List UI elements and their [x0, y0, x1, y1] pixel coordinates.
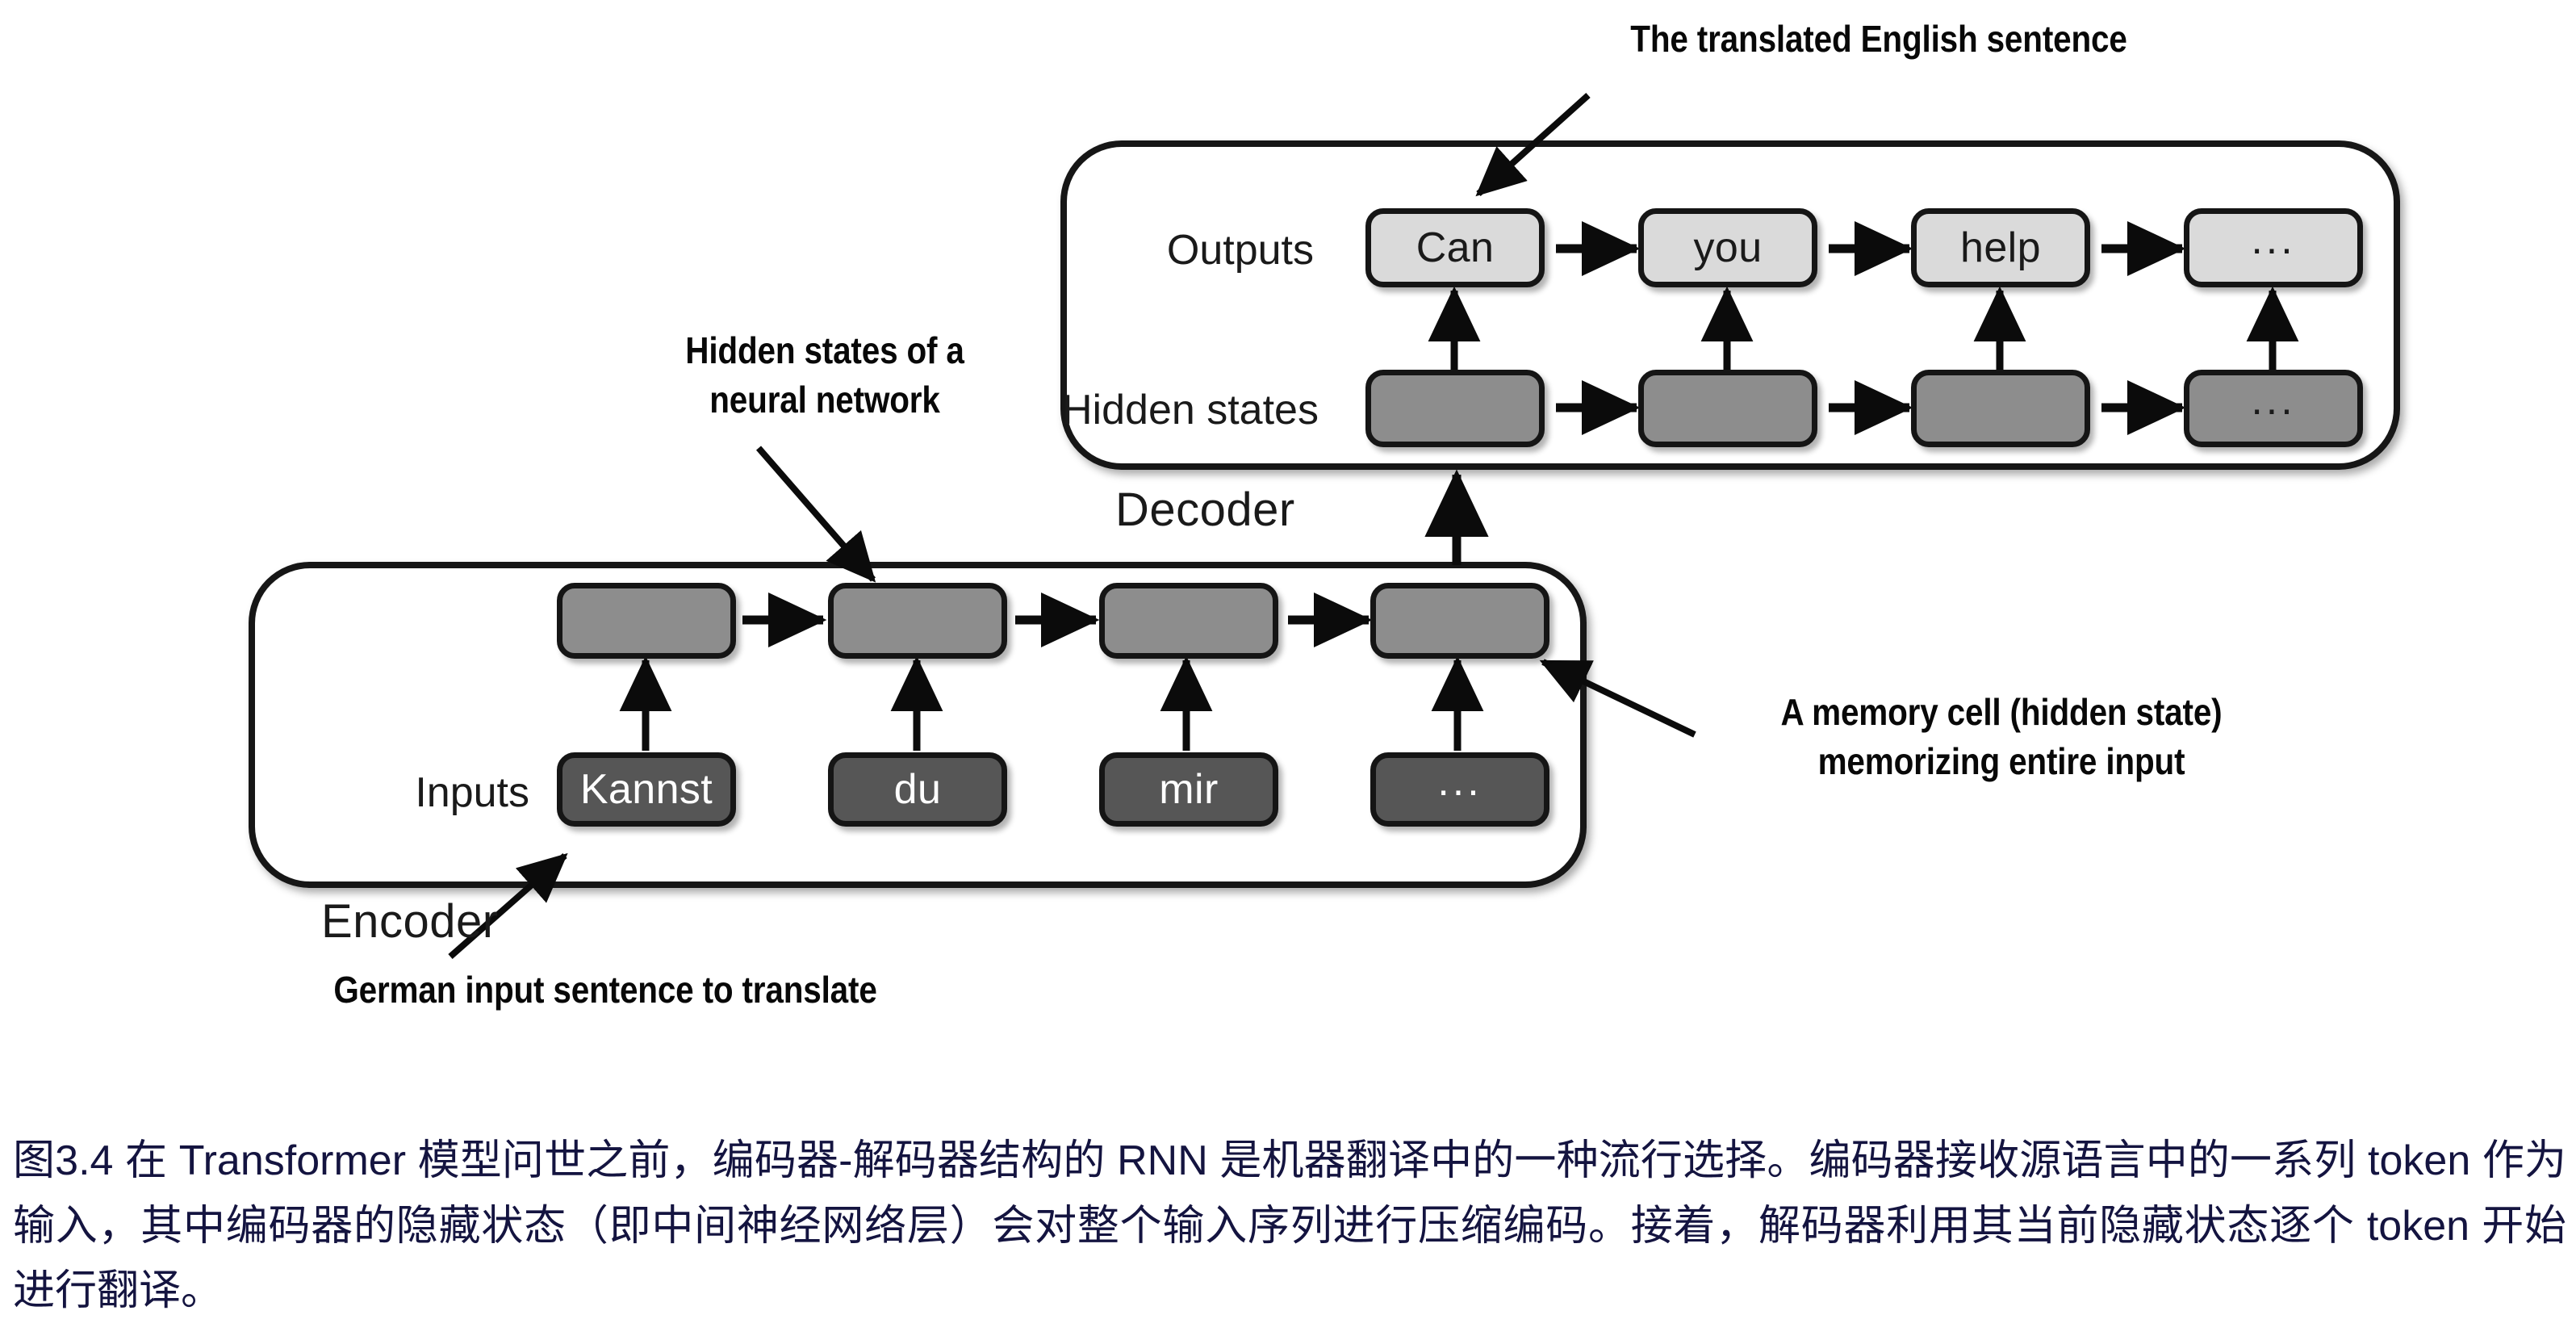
decoder-hidden-cell-2[interactable]: [1638, 370, 1817, 447]
figure-caption: 图3.4 在 Transformer 模型问世之前，编码器-解码器结构的 RNN…: [13, 1129, 2566, 1324]
decoder-hidden-states-row-label: Hidden states: [1062, 386, 1314, 434]
input-cell-1-text: Kannst: [580, 768, 713, 810]
callout-hidden-states-of-neural-network: Hidden states of a neural network: [555, 326, 1095, 424]
decoder-hidden-cell-3[interactable]: [1911, 370, 2090, 447]
input-cell-3-text: mir: [1159, 768, 1218, 810]
input-cell-3[interactable]: mir: [1099, 752, 1278, 827]
output-cell-3[interactable]: help: [1911, 208, 2090, 287]
output-cell-4-text: ...: [2251, 219, 2295, 261]
decoder-hidden-cell-4[interactable]: ...: [2184, 370, 2363, 447]
encoder-title: Encoder: [321, 894, 499, 948]
encoder-hidden-cell-2[interactable]: [828, 583, 1007, 659]
output-cell-1[interactable]: Can: [1365, 208, 1545, 287]
decoder-hidden-cell-1[interactable]: [1365, 370, 1545, 447]
callout-german-input-sentence: German input sentence to translate: [286, 965, 925, 1015]
input-cell-2-text: du: [894, 768, 942, 810]
decoder-title: Decoder: [1115, 483, 1295, 537]
decoder-hidden-cell-4-text: ...: [2251, 379, 2295, 421]
callout-memory-cell: A memory cell (hidden state) memorizing …: [1689, 688, 2314, 785]
callout-translated-english-sentence: The translated English sentence: [1559, 15, 2198, 64]
input-cell-4[interactable]: ...: [1370, 752, 1549, 827]
input-cell-4-text: ...: [1437, 760, 1482, 802]
encoder-hidden-cell-3[interactable]: [1099, 583, 1278, 659]
output-cell-2[interactable]: you: [1638, 208, 1817, 287]
figure-caption-text: 图3.4 在 Transformer 模型问世之前，编码器-解码器结构的 RNN…: [13, 1129, 2566, 1324]
output-cell-1-text: Can: [1416, 227, 1495, 269]
output-cell-4[interactable]: ...: [2184, 208, 2363, 287]
encoder-hidden-cell-4[interactable]: [1370, 583, 1549, 659]
inputs-row-label: Inputs: [329, 768, 529, 817]
output-cell-3-text: help: [1960, 227, 2041, 269]
outputs-row-label: Outputs: [1112, 226, 1314, 274]
leader-hidden-states-nn: [759, 448, 873, 580]
input-cell-1[interactable]: Kannst: [557, 752, 736, 827]
input-cell-2[interactable]: du: [828, 752, 1007, 827]
output-cell-2-text: you: [1693, 227, 1762, 269]
encoder-hidden-cell-1[interactable]: [557, 583, 736, 659]
